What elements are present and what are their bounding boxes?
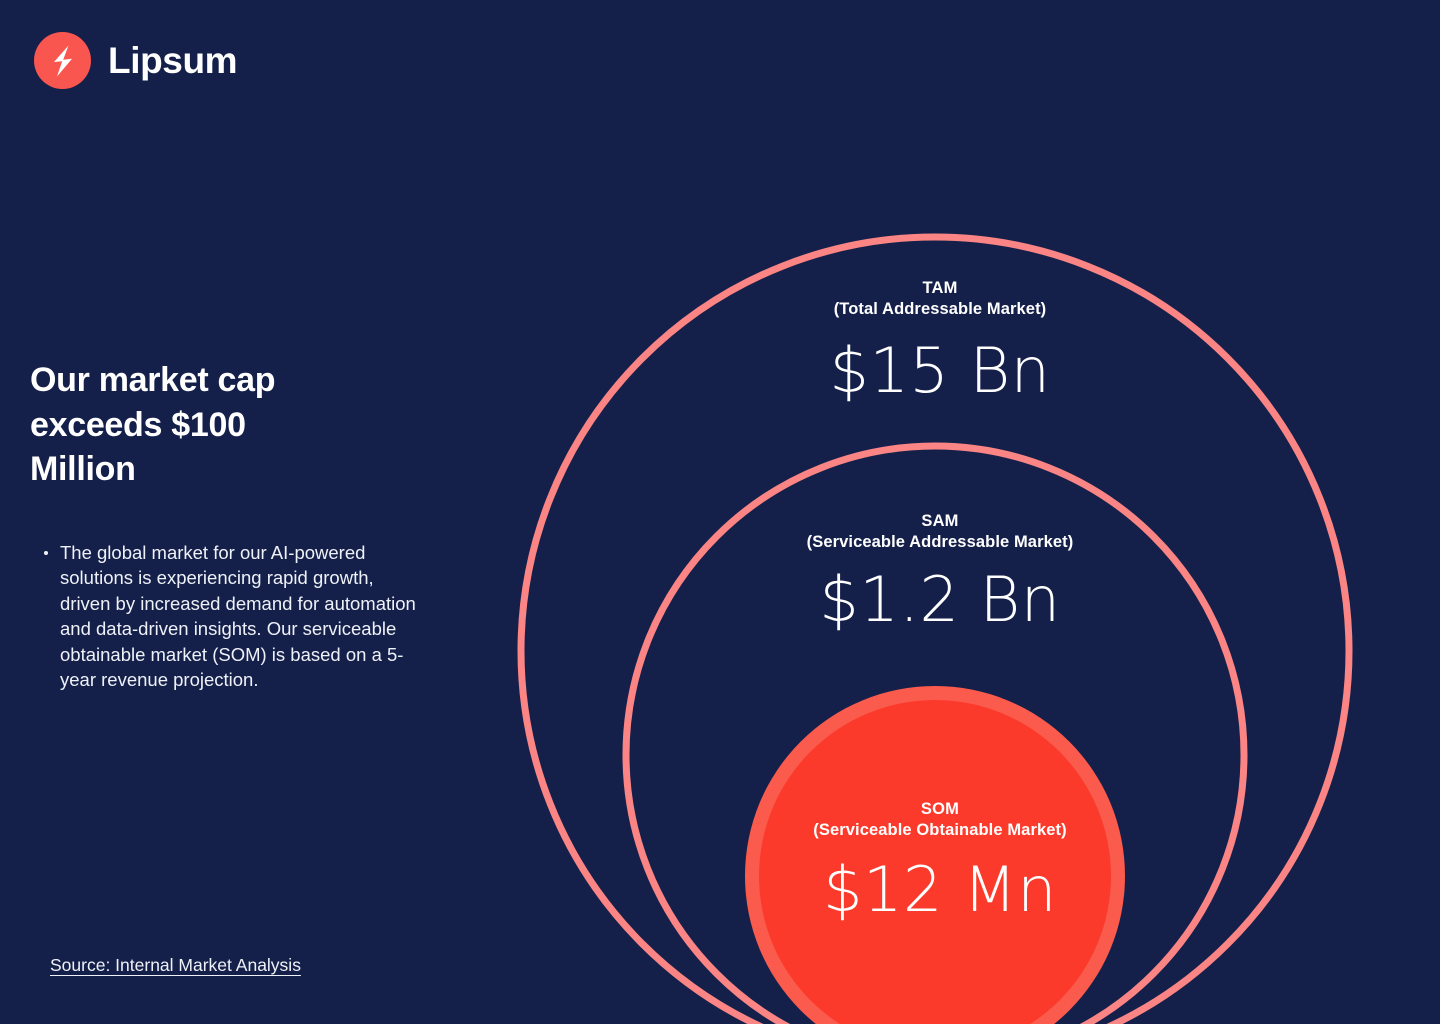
concentric-circles-graphic [440,0,1440,1024]
market-size-diagram: TAM (Total Addressable Market) $15 Bn SA… [440,0,1440,1024]
brand-logo: Lipsum [34,32,237,89]
page-title: Our market cap exceeds $100 Million [30,358,360,492]
left-content-column: Our market cap exceeds $100 Million The … [30,358,420,693]
source-link[interactable]: Source: Internal Market Analysis [50,955,301,976]
lightning-bolt-icon [34,32,91,89]
brand-name: Lipsum [108,42,237,79]
body-bullet-list: The global market for our AI-powered sol… [30,540,420,693]
list-item: The global market for our AI-powered sol… [30,540,420,693]
